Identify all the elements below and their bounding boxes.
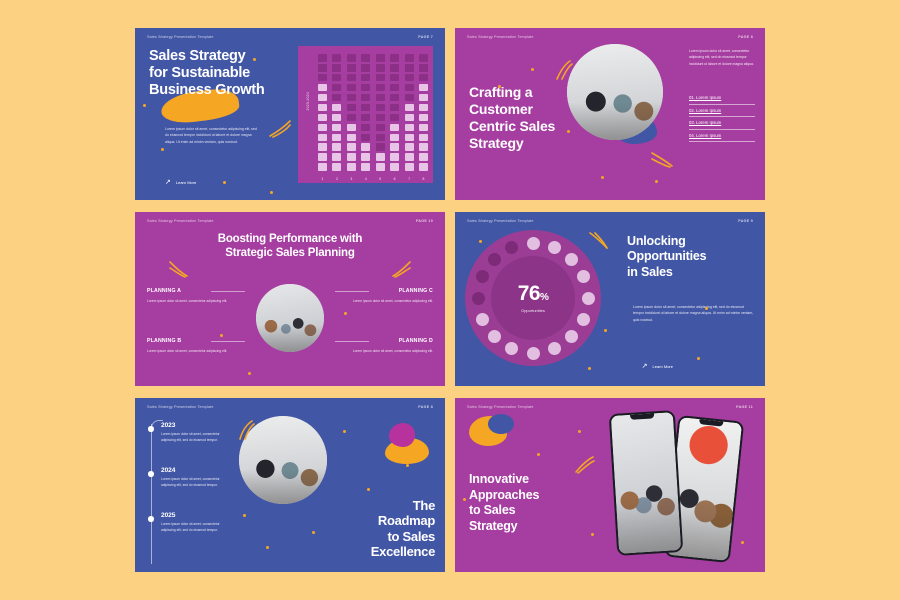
decor-dot — [243, 514, 246, 517]
heatmap-row — [318, 114, 428, 122]
heatmap-cell — [347, 104, 356, 112]
page-number: PAGE 10 — [416, 219, 433, 223]
planning-item-a: PLANNING A Lorem ipsum dolor sit amet, c… — [147, 288, 229, 304]
heatmap-cell — [419, 54, 428, 62]
timeline-bullet — [148, 426, 154, 432]
heatmap-cell — [361, 114, 370, 122]
decor-dot — [588, 367, 591, 370]
heatmap-cell — [347, 74, 356, 82]
swoosh-icon — [651, 150, 673, 168]
page-number: PAGE 7 — [418, 35, 433, 39]
heatmap-cell — [318, 114, 327, 122]
title-line-2: for Sustainable — [149, 65, 301, 82]
slide-3-title: Boosting Performance with Strategic Sale… — [135, 232, 445, 261]
swoosh-icon — [238, 420, 256, 440]
heatmap-cell — [361, 94, 370, 102]
heatmap-cell — [376, 134, 385, 142]
title-line-3: to Sales — [469, 503, 575, 519]
heatmap-x-tick: 1 — [318, 177, 327, 181]
blue-blob-shape — [488, 414, 514, 434]
heatmap-cell — [332, 84, 341, 92]
title-line-3: Centric Sales — [469, 118, 591, 135]
planning-heading: PLANNING D — [351, 338, 433, 344]
planning-body: Lorem ipsum dolor sit amet, consectetur … — [351, 298, 433, 304]
planning-heading: PLANNING C — [351, 288, 433, 294]
list-item[interactable]: 02. Lorem Ipsum — [689, 105, 755, 118]
decor-dot — [143, 104, 146, 107]
donut-segment-dot — [472, 292, 485, 305]
slide-3-header: Sales Strategy Presentation Template PAG… — [147, 219, 433, 223]
heatmap-cell — [376, 163, 385, 171]
decor-dot — [604, 329, 607, 332]
learn-more-label: Learn More — [653, 364, 673, 369]
heatmap-cell — [405, 163, 414, 171]
heatmap-cell — [419, 143, 428, 151]
heatmap-cell — [376, 74, 385, 82]
heatmap-cell — [361, 134, 370, 142]
heatmap-cell — [405, 94, 414, 102]
decor-dot — [655, 180, 658, 183]
donut-segment-dot — [527, 237, 540, 250]
decor-dot — [248, 372, 251, 375]
heatmap-cell — [318, 104, 327, 112]
decor-dot — [601, 176, 604, 179]
heatmap-cell — [318, 153, 327, 161]
heatmap-cell — [390, 104, 399, 112]
swoosh-icon — [555, 60, 573, 80]
heatmap-x-tick: 8 — [419, 177, 428, 181]
heatmap-cell — [361, 104, 370, 112]
heatmap-cell — [347, 84, 356, 92]
decor-dot — [266, 546, 269, 549]
donut-unit: % — [540, 292, 548, 303]
slide-5-title: The Roadmap to Sales Excellence — [323, 498, 435, 560]
donut-center: 76% Opportunities — [491, 256, 575, 340]
slide-1[interactable]: Sales Strategy Presentation Template PAG… — [135, 28, 445, 200]
heatmap-cell — [390, 153, 399, 161]
header-label: Sales Strategy Presentation Template — [147, 405, 214, 409]
planning-item-d: PLANNING D Lorem ipsum dolor sit amet, c… — [351, 338, 433, 354]
header-label: Sales Strategy Presentation Template — [467, 405, 534, 409]
header-label: Sales Strategy Presentation Template — [147, 219, 214, 223]
heatmap-cell — [332, 74, 341, 82]
heatmap-cell — [405, 134, 414, 142]
heatmap-cell — [390, 64, 399, 72]
planning-item-b: PLANNING B Lorem ipsum dolor sit amet, c… — [147, 338, 229, 354]
heatmap-cell — [376, 143, 385, 151]
title-line-2: Strategic Sales Planning — [135, 246, 445, 260]
title-line-1: Sales Strategy — [149, 48, 301, 65]
decor-dot — [223, 181, 226, 184]
heatmap-cell — [390, 163, 399, 171]
heatmap-row — [318, 54, 428, 62]
donut-segment-dot — [527, 347, 540, 360]
decor-dot — [741, 541, 744, 544]
title-line-3: to Sales — [323, 529, 435, 545]
timeline-year: 2023 — [161, 422, 229, 429]
heatmap-cell — [318, 54, 327, 62]
slide-2-header: Sales Strategy Presentation Template PAG… — [467, 35, 753, 39]
slide-1-header: Sales Strategy Presentation Template PAG… — [147, 35, 433, 39]
heatmap-cell — [332, 114, 341, 122]
page-number: PAGE 11 — [736, 405, 753, 409]
heatmap-grid — [318, 54, 428, 171]
heatmap-cell — [419, 94, 428, 102]
title-line-3: Business Growth — [149, 82, 301, 99]
heatmap-row — [318, 143, 428, 151]
title-line-1: Crafting a — [469, 84, 591, 101]
swoosh-icon — [575, 456, 595, 474]
heatmap-cell — [318, 94, 327, 102]
slide-6-title: Innovative Approaches to Sales Strategy — [469, 472, 575, 534]
decor-dot — [367, 488, 370, 491]
heatmap-x-tick: 2 — [332, 177, 341, 181]
heatmap-cell — [405, 114, 414, 122]
title-line-2: Customer — [469, 101, 591, 118]
heatmap-cell — [332, 134, 341, 142]
heatmap-cell — [405, 74, 414, 82]
planning-item-c: PLANNING C Lorem ipsum dolor sit amet, c… — [351, 288, 433, 304]
heatmap-cell — [419, 104, 428, 112]
heatmap-cell — [419, 114, 428, 122]
list-item[interactable]: 04. Lorem Ipsum — [689, 130, 755, 143]
decor-dot — [161, 148, 164, 151]
heatmap-cell — [318, 124, 327, 132]
title-line-4: Excellence — [323, 544, 435, 560]
list-item[interactable]: 01. Lorem Ipsum — [689, 92, 755, 105]
arrow-up-right-icon: ↗ — [642, 363, 648, 370]
heatmap-row — [318, 163, 428, 171]
donut-segment-dot — [476, 313, 489, 326]
timeline-bullet — [148, 471, 154, 477]
decor-dot — [312, 531, 315, 534]
heatmap-cell — [419, 124, 428, 132]
heatmap-row — [318, 74, 428, 82]
heatmap-cell — [318, 74, 327, 82]
title-line-1: The — [323, 498, 435, 514]
timeline-item-2025: 2025 Lorem ipsum dolor sit amet, consect… — [161, 512, 229, 534]
planning-body: Lorem ipsum dolor sit amet, consectetur … — [147, 298, 229, 304]
slide-1-body-text: Lorem ipsum dolor sit amet, consectetur … — [165, 126, 259, 145]
heatmap-cell — [419, 74, 428, 82]
heatmap-cell — [347, 163, 356, 171]
heatmap-cell — [405, 104, 414, 112]
decor-dot — [406, 464, 409, 467]
header-label: Sales Strategy Presentation Template — [467, 35, 534, 39]
learn-more-button[interactable]: ↗ Learn More — [642, 363, 673, 370]
slide-2-title: Crafting a Customer Centric Sales Strate… — [469, 84, 591, 152]
heatmap-cell — [376, 114, 385, 122]
timeline-item-2023: 2023 Lorem ipsum dolor sit amet, consect… — [161, 422, 229, 444]
donut-segment-dot — [548, 342, 561, 355]
heatmap-cell — [318, 163, 327, 171]
slide-2-list: 01. Lorem Ipsum 02. Lorem Ipsum 03. Lore… — [689, 92, 755, 142]
donut-chart: 76% Opportunities — [465, 230, 601, 366]
heatmap-cell — [361, 143, 370, 151]
heatmap-cell — [390, 54, 399, 62]
heatmap-x-tick: 4 — [361, 177, 370, 181]
heatmap-cell — [332, 64, 341, 72]
heatmap-cell — [376, 124, 385, 132]
slide-4-body-text: Lorem ipsum dolor sit amet, consectetur … — [633, 304, 755, 323]
swoosh-icon — [269, 120, 291, 138]
planning-heading: PLANNING B — [147, 338, 229, 344]
heatmap-cell — [405, 84, 414, 92]
heatmap-cell — [405, 153, 414, 161]
heatmap-x-tick: 5 — [376, 177, 385, 181]
heatmap-cell — [390, 124, 399, 132]
page-number: PAGE 9 — [738, 219, 753, 223]
heatmap-cell — [361, 124, 370, 132]
page-number: PAGE 8 — [738, 35, 753, 39]
timeline-item-2024: 2024 Lorem ipsum dolor sit amet, consect… — [161, 467, 229, 489]
swoosh-icon — [589, 232, 609, 250]
title-line-3: in Sales — [627, 265, 755, 280]
heatmap-cell — [419, 163, 428, 171]
slide-6[interactable]: Sales Strategy Presentation Template PAG… — [455, 398, 765, 572]
heatmap-cell — [347, 134, 356, 142]
timeline-body: Lorem ipsum dolor sit amet, consectetur … — [161, 432, 229, 444]
chart-y-axis-label: 2020-2024 — [306, 92, 310, 110]
decor-dot — [463, 498, 466, 501]
heatmap-row — [318, 134, 428, 142]
heatmap-row — [318, 104, 428, 112]
title-line-1: Boosting Performance with — [135, 232, 445, 246]
heatmap-cell — [405, 143, 414, 151]
title-line-4: Strategy — [469, 135, 591, 152]
header-label: Sales Strategy Presentation Template — [147, 35, 214, 39]
heatmap-cell — [361, 84, 370, 92]
donut-percentage: 76% — [518, 283, 548, 304]
heatmap-cell — [376, 94, 385, 102]
heatmap-cell — [347, 54, 356, 62]
slide-5-header: Sales Strategy Presentation Template PAG… — [147, 405, 433, 409]
heatmap-x-tick: 3 — [347, 177, 356, 181]
magenta-blob-shape — [389, 423, 415, 447]
heatmap-cell — [405, 124, 414, 132]
heatmap-row — [318, 153, 428, 161]
heatmap-cell — [390, 74, 399, 82]
heatmap-chart: 2020-2024 12345678 — [298, 46, 433, 183]
heatmap-cell — [347, 64, 356, 72]
heatmap-cell — [347, 124, 356, 132]
donut-label: Opportunities — [521, 308, 545, 313]
slide-2-body-text: Lorem ipsum dolor sit amet, consectetur … — [689, 48, 755, 67]
decor-dot — [697, 357, 700, 360]
heatmap-cell — [361, 163, 370, 171]
heatmap-cell — [361, 54, 370, 62]
heatmap-row — [318, 94, 428, 102]
heatmap-cell — [318, 64, 327, 72]
slide-6-header: Sales Strategy Presentation Template PAG… — [467, 405, 753, 409]
heatmap-cell — [405, 54, 414, 62]
heatmap-cell — [419, 64, 428, 72]
swoosh-icon — [391, 260, 411, 278]
title-line-1: Unlocking — [627, 234, 755, 249]
timeline-line — [151, 424, 152, 564]
heatmap-cell — [347, 143, 356, 151]
heatmap-cell — [332, 54, 341, 62]
slide-4[interactable]: Sales Strategy Presentation Template PAG… — [455, 212, 765, 386]
header-label: Sales Strategy Presentation Template — [467, 219, 534, 223]
heatmap-cell — [361, 74, 370, 82]
title-line-4: Strategy — [469, 519, 575, 535]
heatmap-row — [318, 84, 428, 92]
decor-dot — [578, 430, 581, 433]
planning-body: Lorem ipsum dolor sit amet, consectetur … — [147, 348, 229, 354]
planning-body: Lorem ipsum dolor sit amet, consectetur … — [351, 348, 433, 354]
heatmap-cell — [318, 134, 327, 142]
swoosh-icon — [169, 260, 189, 278]
heatmap-cell — [332, 124, 341, 132]
donut-segment-dot — [548, 241, 561, 254]
photo-image — [611, 412, 681, 554]
heatmap-cell — [390, 84, 399, 92]
phone-screen — [611, 412, 681, 554]
heatmap-cell — [376, 84, 385, 92]
heatmap-cell — [332, 104, 341, 112]
heatmap-cell — [347, 114, 356, 122]
page-number: PAGE 8 — [418, 405, 433, 409]
heatmap-row — [318, 64, 428, 72]
slide-5[interactable]: Sales Strategy Presentation Template PAG… — [135, 398, 445, 572]
heatmap-x-tick: 6 — [390, 177, 399, 181]
heatmap-cell — [318, 84, 327, 92]
heatmap-cell — [419, 84, 428, 92]
timeline-year: 2025 — [161, 512, 229, 519]
heatmap-cell — [376, 64, 385, 72]
heatmap-cell — [390, 94, 399, 102]
title-line-2: Roadmap — [323, 513, 435, 529]
slide-4-header: Sales Strategy Presentation Template PAG… — [467, 219, 753, 223]
decor-dot — [220, 334, 223, 337]
slide-2[interactable]: Sales Strategy Presentation Template PAG… — [455, 28, 765, 200]
heatmap-cell — [405, 64, 414, 72]
slide-3[interactable]: Sales Strategy Presentation Template PAG… — [135, 212, 445, 386]
heatmap-cell — [376, 104, 385, 112]
heatmap-cell — [332, 163, 341, 171]
donut-segment-dot — [582, 292, 595, 305]
timeline-year: 2024 — [161, 467, 229, 474]
heatmap-cell — [361, 64, 370, 72]
photo-image — [256, 284, 324, 352]
heatmap-cell — [390, 114, 399, 122]
learn-more-label: Learn More — [176, 180, 196, 185]
donut-segment-dot — [577, 313, 590, 326]
heatmap-cell — [332, 94, 341, 102]
donut-segment-dot — [488, 253, 501, 266]
title-line-2: Approaches — [469, 488, 575, 504]
heatmap-cell — [390, 143, 399, 151]
decor-dot — [343, 430, 346, 433]
timeline-bullet — [148, 516, 154, 522]
heatmap-cell — [347, 94, 356, 102]
phone-mockup-left — [609, 410, 684, 556]
heatmap-cell — [376, 153, 385, 161]
heatmap-cell — [390, 134, 399, 142]
heatmap-cell — [419, 134, 428, 142]
heatmap-cell — [318, 143, 327, 151]
slide-1-title: Sales Strategy for Sustainable Business … — [149, 48, 301, 99]
decor-dot — [270, 191, 273, 194]
heatmap-cell — [347, 153, 356, 161]
arrow-up-right-icon: ↗ — [165, 179, 171, 186]
heatmap-x-axis: 12345678 — [318, 177, 428, 181]
learn-more-button[interactable]: ↗ Learn More — [165, 179, 196, 186]
donut-value: 76 — [518, 282, 540, 305]
heatmap-cell — [332, 153, 341, 161]
heatmap-cell — [376, 54, 385, 62]
timeline-body: Lorem ipsum dolor sit amet, consectetur … — [161, 477, 229, 489]
donut-segment-dot — [488, 330, 501, 343]
title-line-1: Innovative — [469, 472, 575, 488]
heatmap-row — [318, 124, 428, 132]
slide-4-title: Unlocking Opportunities in Sales — [627, 234, 755, 280]
heatmap-cell — [361, 153, 370, 161]
list-item[interactable]: 03. Lorem Ipsum — [689, 117, 755, 130]
decor-dot — [537, 453, 540, 456]
decor-dot — [344, 312, 347, 315]
decor-dot — [591, 533, 594, 536]
timeline-body: Lorem ipsum dolor sit amet, consectetur … — [161, 522, 229, 534]
heatmap-x-tick: 7 — [405, 177, 414, 181]
title-line-2: Opportunities — [627, 249, 755, 264]
slide-deck: Sales Strategy Presentation Template PAG… — [0, 0, 900, 600]
heatmap-cell — [419, 153, 428, 161]
planning-heading: PLANNING A — [147, 288, 229, 294]
decor-dot — [531, 68, 534, 71]
heatmap-cell — [332, 143, 341, 151]
donut-segment-dot — [565, 253, 578, 266]
team-photo — [256, 284, 324, 352]
